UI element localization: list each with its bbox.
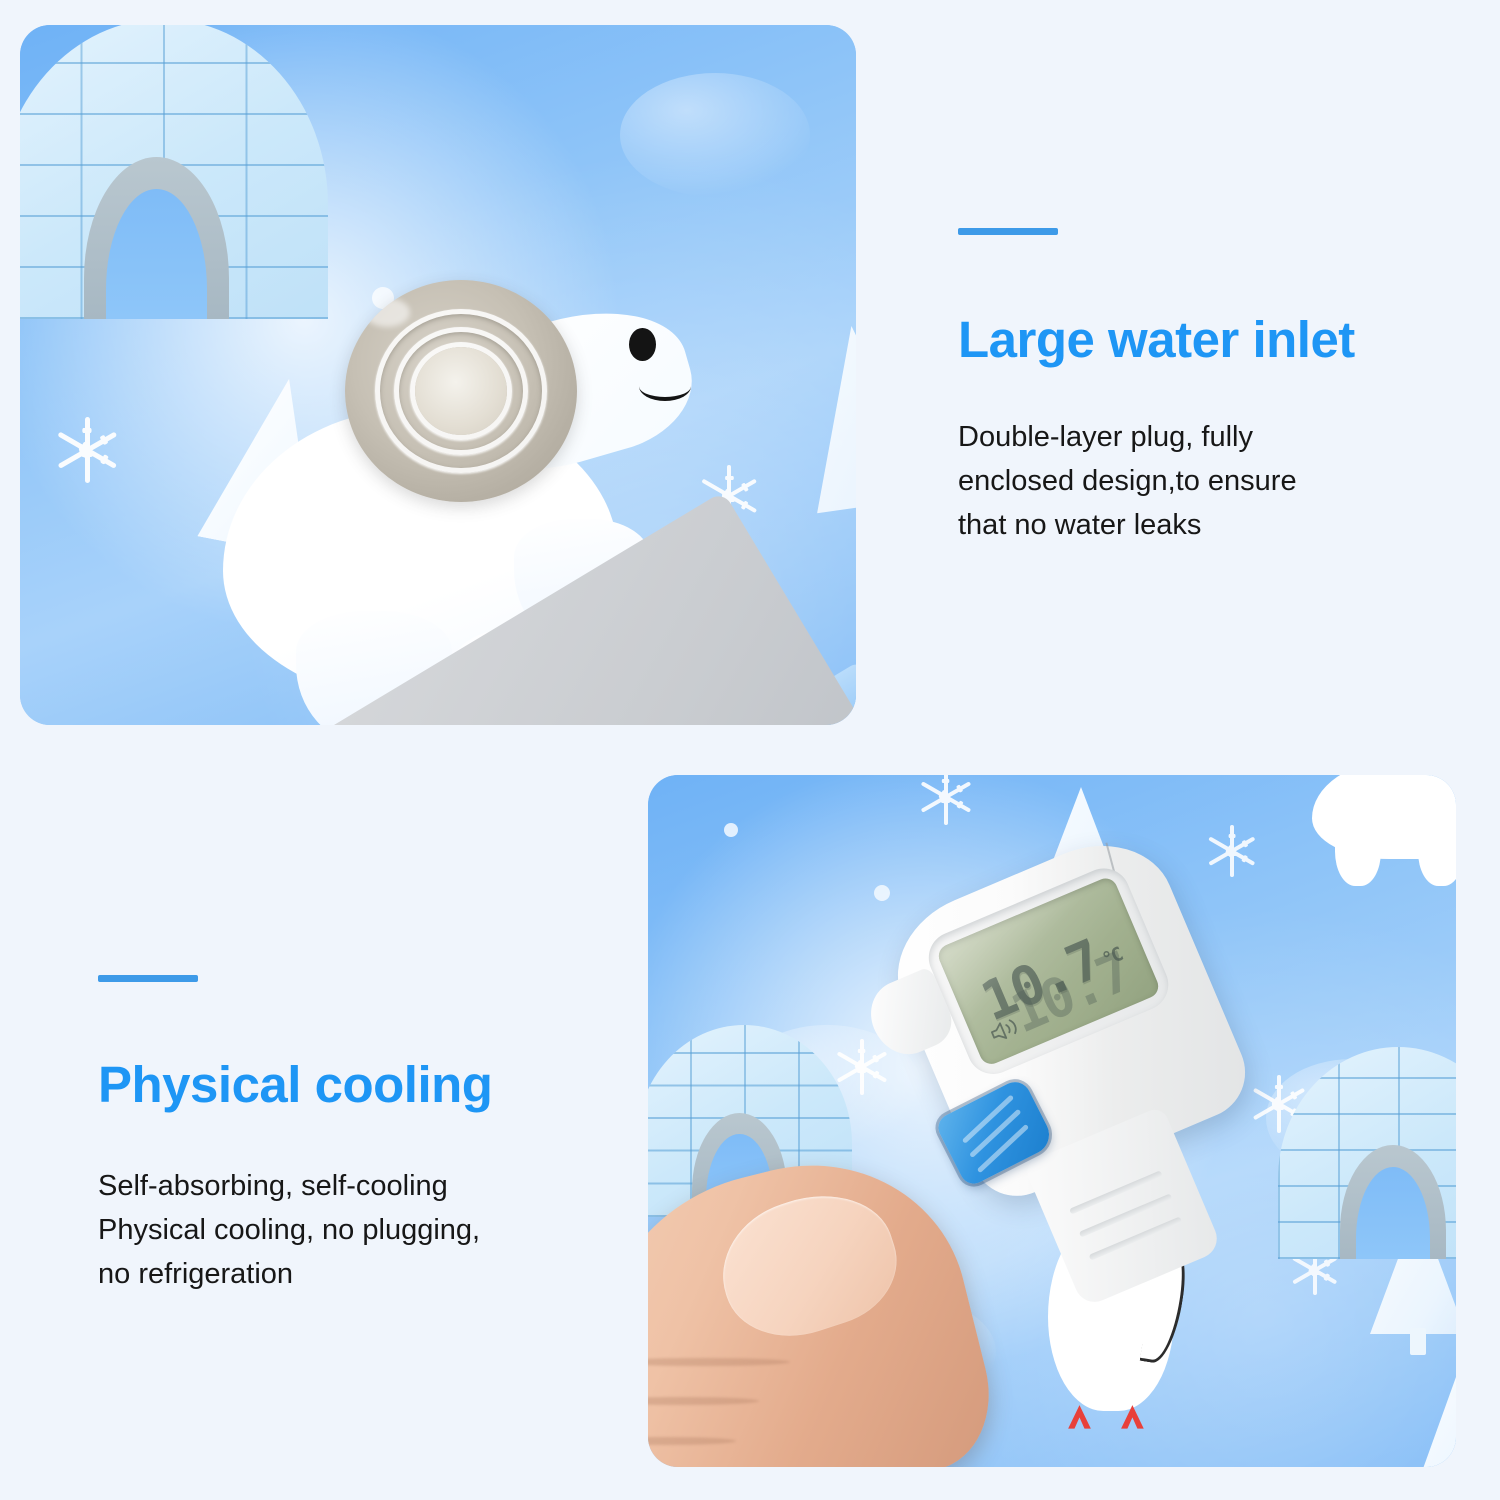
accent-bar bbox=[98, 975, 198, 982]
snowflake-icon bbox=[52, 417, 118, 483]
feature-description: Double-layer plug, fully enclosed design… bbox=[958, 415, 1478, 547]
description-line: enclosed design,to ensure bbox=[958, 465, 1297, 497]
water-inlet-port bbox=[345, 280, 577, 502]
bear-eye bbox=[629, 328, 656, 362]
inlet-core bbox=[415, 347, 508, 436]
snow-dot bbox=[874, 885, 890, 901]
snowflake-icon bbox=[1204, 825, 1256, 877]
conifer-tree-icon bbox=[1404, 1377, 1456, 1467]
description-line: Physical cooling, no plugging, bbox=[98, 1214, 480, 1246]
snowflake-icon bbox=[916, 775, 972, 825]
igloo-illustration bbox=[1278, 1047, 1456, 1259]
skin-crease bbox=[648, 1358, 790, 1366]
snow-dot bbox=[724, 823, 738, 837]
photo-card-physical-cooling: 10.7 10.7 °C bbox=[648, 775, 1456, 1467]
description-line: that no water leaks bbox=[958, 509, 1201, 541]
description-line: no refrigeration bbox=[98, 1258, 293, 1290]
infographic-stage: 10.7 10.7 °C bbox=[0, 0, 1500, 1500]
feature-description: Self-absorbing, self-cooling Physical co… bbox=[98, 1164, 628, 1296]
feature-physical-cooling: Physical cooling Self-absorbing, self-co… bbox=[98, 975, 628, 1296]
tree-foliage bbox=[1404, 1377, 1456, 1467]
inlet-highlight bbox=[364, 298, 410, 327]
bubble-decoration bbox=[620, 73, 810, 197]
polar-bear-silhouette bbox=[1312, 775, 1456, 895]
accent-bar bbox=[958, 228, 1058, 235]
description-line: Double-layer plug, fully bbox=[958, 421, 1253, 453]
feature-large-water-inlet: Large water inlet Double-layer plug, ful… bbox=[958, 228, 1478, 547]
feature-title: Large water inlet bbox=[958, 313, 1478, 367]
igloo-illustration bbox=[20, 25, 328, 319]
photo-card-water-inlet bbox=[20, 25, 856, 725]
tree-trunk bbox=[1410, 1328, 1425, 1355]
hand-thumb bbox=[648, 1173, 972, 1467]
bear-leg bbox=[1335, 832, 1381, 886]
bear-leg bbox=[1418, 832, 1456, 886]
bear-mouth bbox=[639, 372, 691, 401]
feature-title: Physical cooling bbox=[98, 1058, 628, 1112]
description-line: Self-absorbing, self-cooling bbox=[98, 1170, 448, 1202]
trigger-rib bbox=[968, 1109, 1020, 1158]
